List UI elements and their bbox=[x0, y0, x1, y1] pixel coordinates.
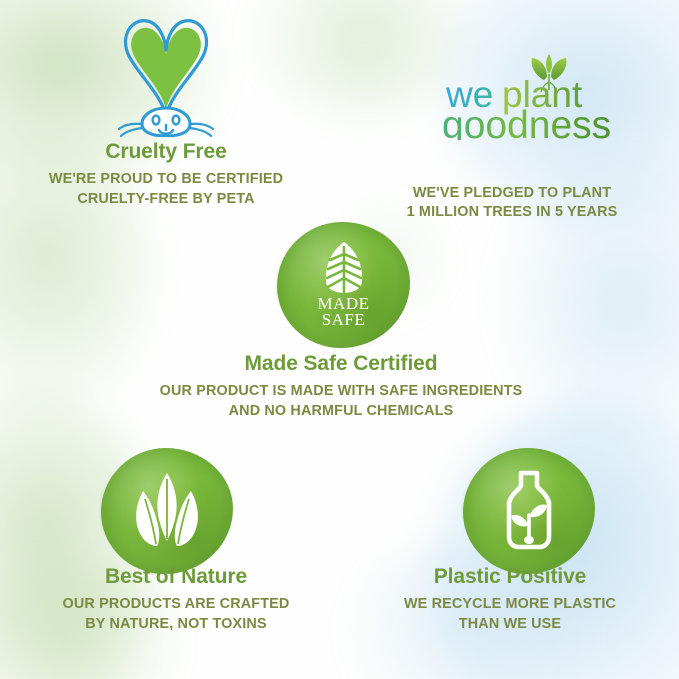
made-safe-description-line-2: AND NO HARMFUL CHEMICALS bbox=[229, 403, 454, 419]
made-safe-description: OUR PRODUCT IS MADE WITH SAFE INGREDIENT… bbox=[126, 382, 556, 421]
leaf-icon bbox=[321, 240, 367, 296]
cruelty-free-heading: Cruelty Free bbox=[6, 140, 326, 164]
we-plant-goodness-description: WE'VE PLEDGED TO PLANT 1 MILLION TREES I… bbox=[352, 184, 672, 223]
we-plant-goodness-section: WE'VE PLEDGED TO PLANT 1 MILLION TREES I… bbox=[352, 140, 672, 223]
cruelty-free-description-line-2: CRUELTY-FREE BY PETA bbox=[77, 191, 254, 207]
we-plant-goodness-description-line-1: WE'VE PLEDGED TO PLANT bbox=[413, 185, 611, 201]
plastic-positive-description-line-1: WE RECYCLE MORE PLASTIC bbox=[404, 596, 616, 612]
plastic-positive-heading: Plastic Positive bbox=[350, 565, 670, 589]
we-plant-goodness-description-line-2: 1 MILLION TREES IN 5 YEARS bbox=[407, 204, 618, 220]
we-plant-goodness-icon: we plant goodness bbox=[440, 50, 645, 140]
cruelty-free-description: WE'RE PROUD TO BE CERTIFIED CRUELTY-FREE… bbox=[6, 170, 326, 209]
made-safe-section: Made Safe Certified OUR PRODUCT IS MADE … bbox=[126, 352, 556, 421]
made-safe-badge: MADE SAFE bbox=[277, 222, 410, 348]
three-leaves-icon bbox=[124, 469, 210, 553]
best-of-nature-description-line-1: OUR PRODUCTS ARE CRAFTED bbox=[63, 596, 290, 612]
made-safe-heading: Made Safe Certified bbox=[126, 352, 556, 376]
made-safe-badge-line-2: SAFE bbox=[322, 310, 366, 329]
svg-text:goodness: goodness bbox=[442, 104, 611, 140]
best-of-nature-description: OUR PRODUCTS ARE CRAFTED BY NATURE, NOT … bbox=[16, 595, 336, 634]
cruelty-free-section: Cruelty Free WE'RE PROUD TO BE CERTIFIED… bbox=[6, 140, 326, 209]
best-of-nature-heading: Best of Nature bbox=[16, 565, 336, 589]
cruelty-free-description-line-1: WE'RE PROUD TO BE CERTIFIED bbox=[49, 171, 283, 187]
cruelty-free-bunny-icon bbox=[106, 12, 226, 137]
plastic-positive-description-line-2: THAN WE USE bbox=[459, 616, 561, 632]
plastic-positive-description: WE RECYCLE MORE PLASTIC THAN WE USE bbox=[350, 595, 670, 634]
brand-promise-poster: Cruelty Free WE'RE PROUD TO BE CERTIFIED… bbox=[0, 0, 679, 679]
made-safe-description-line-1: OUR PRODUCT IS MADE WITH SAFE INGREDIENT… bbox=[160, 383, 523, 399]
plastic-positive-badge bbox=[463, 448, 595, 574]
best-of-nature-badge bbox=[101, 448, 233, 574]
bottle-sprout-icon bbox=[493, 469, 565, 553]
best-of-nature-description-line-2: BY NATURE, NOT TOXINS bbox=[85, 616, 266, 632]
best-of-nature-section: Best of Nature OUR PRODUCTS ARE CRAFTED … bbox=[16, 565, 336, 634]
made-safe-badge-text: MADE SAFE bbox=[317, 296, 369, 328]
plastic-positive-section: Plastic Positive WE RECYCLE MORE PLASTIC… bbox=[350, 565, 670, 634]
